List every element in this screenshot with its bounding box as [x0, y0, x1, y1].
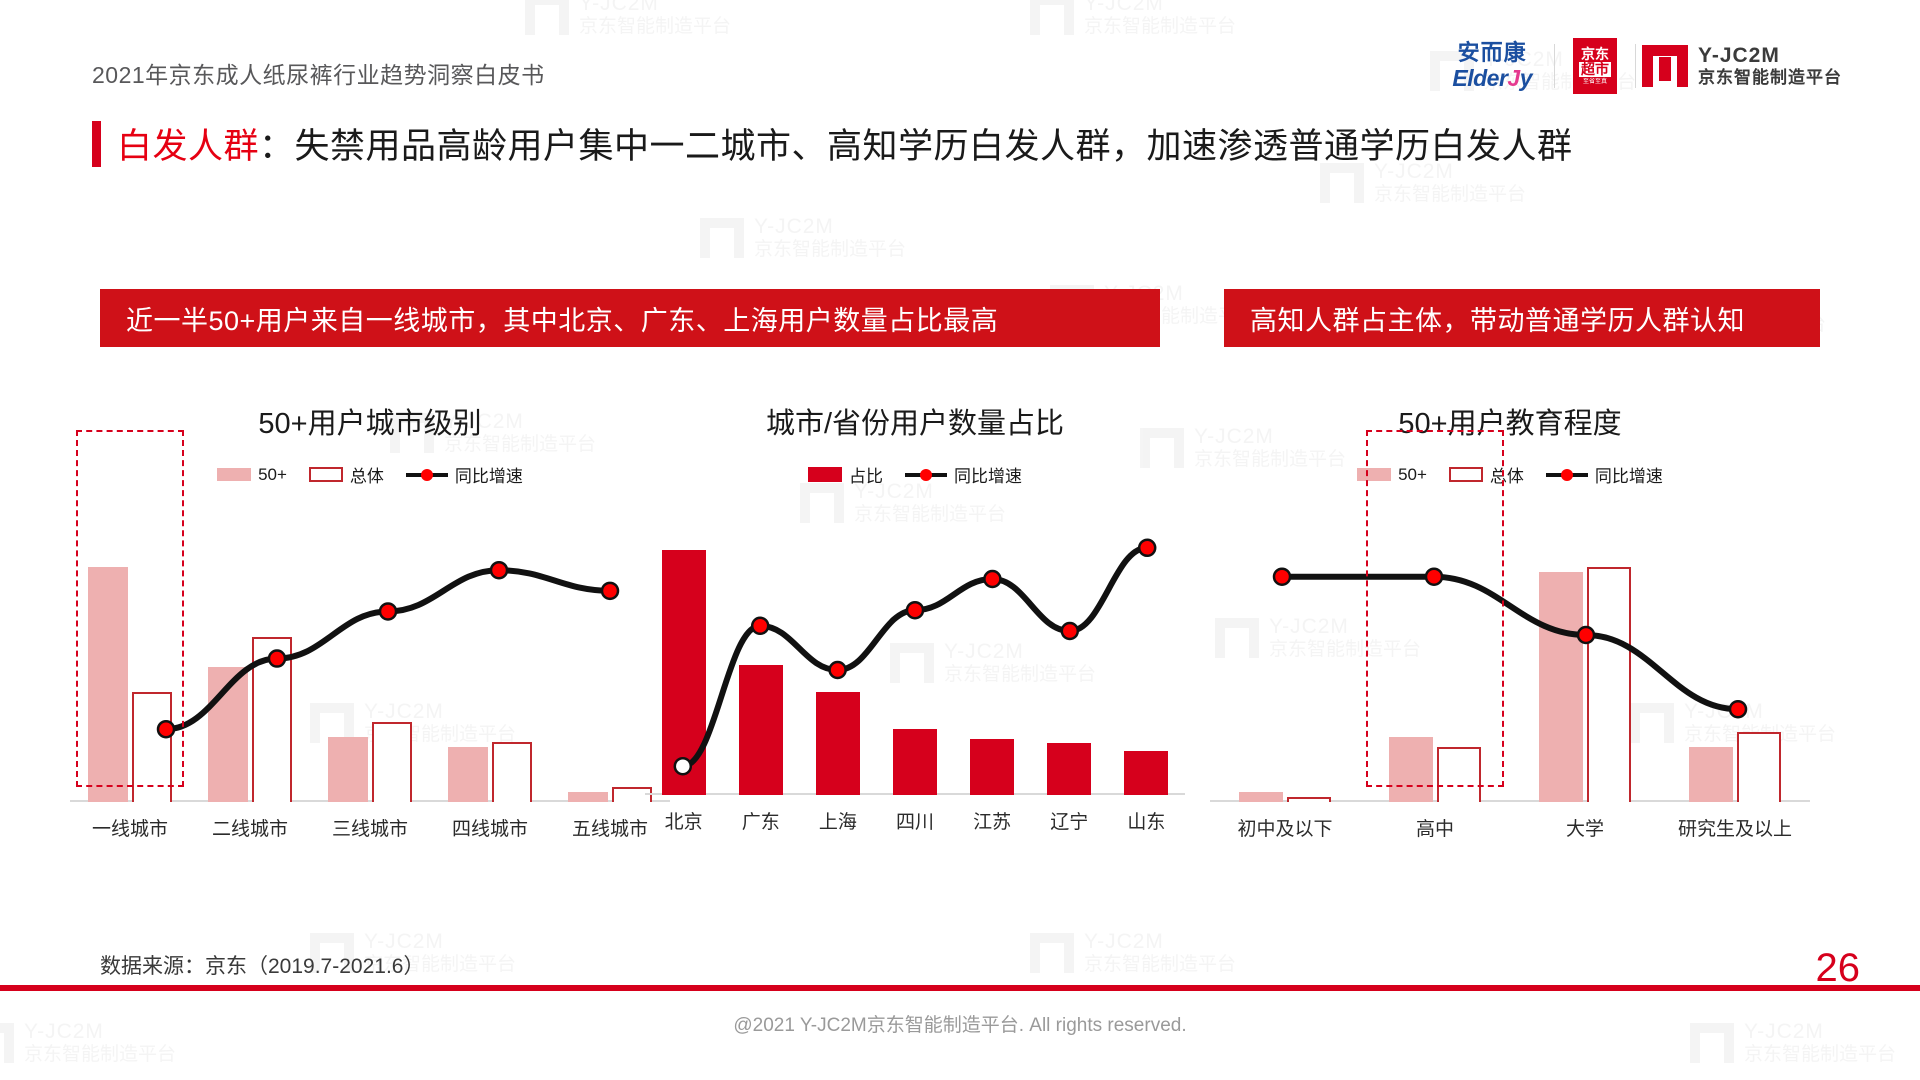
title-text: 白发人群：失禁用品高龄用户集中一二城市、高知学历白发人群，加速渗透普通学历白发人… [117, 118, 1573, 169]
x-label-辽宁: 辽宁 [1031, 807, 1108, 834]
line-point-大学 [1578, 627, 1594, 643]
x-label-四线城市: 四线城市 [430, 814, 550, 841]
x-label-高中: 高中 [1360, 814, 1510, 841]
chart-1-title: 50+用户城市级别 [70, 400, 670, 442]
x-label-初中及以下: 初中及以下 [1210, 814, 1360, 841]
data-source: 数据来源：京东（2019.7-2021.6） [100, 950, 424, 980]
chart-2-legend: 占比 同比增速 [645, 462, 1185, 487]
x-label-四川: 四川 [876, 807, 953, 834]
jd-logo-line1: 京东 [1581, 47, 1609, 62]
x-label-大学: 大学 [1510, 814, 1660, 841]
chart-education-level: 50+用户教育程度 50+ 总体 同比增速 初中及以下高中大学研究生及以上 [1210, 400, 1810, 841]
legend-swatch-open-icon [1449, 467, 1483, 482]
line-point-一线城市 [158, 721, 174, 737]
chart-2-plot [645, 515, 1185, 795]
watermark-cn: 京东智能制造平台 [24, 1044, 176, 1066]
jd-logo-line2: 超市 [1579, 62, 1611, 77]
x-label-二线城市: 二线城市 [190, 814, 310, 841]
line-point-广东 [752, 618, 768, 634]
watermark-cn: 京东智能制造平台 [754, 239, 906, 261]
line-point-三线城市 [380, 603, 396, 619]
x-label-山东: 山东 [1108, 807, 1185, 834]
legend-item-50plus: 50+ [217, 465, 287, 485]
elderjoy-logo-en: ElderJy [1452, 67, 1532, 90]
growth-line-series [1210, 517, 1810, 802]
line-point-山东 [1139, 540, 1155, 556]
line-point-二线城市 [269, 651, 285, 667]
chart-city-province-share: 城市/省份用户数量占比 占比 同比增速 北京广东上海四川江苏辽宁山东 [645, 400, 1185, 834]
line-point-五线城市 [602, 583, 618, 599]
jd-logo-line3: 至省至真 [1583, 79, 1607, 85]
watermark-cn: 京东智能制造平台 [1744, 1044, 1896, 1066]
growth-line-series [70, 517, 670, 802]
line-point-江苏 [984, 571, 1000, 587]
chart-2-x-labels: 北京广东上海四川江苏辽宁山东 [645, 807, 1185, 834]
chart-3-x-labels: 初中及以下高中大学研究生及以上 [1210, 814, 1810, 841]
watermark-cn: 京东智能制造平台 [1084, 954, 1236, 976]
line-point-四川 [907, 602, 923, 618]
legend-item-total: 总体 [309, 462, 384, 487]
x-label-广东: 广东 [722, 807, 799, 834]
chart-1-plot [70, 517, 670, 802]
yjc2m-mark-icon [1642, 45, 1688, 87]
legend-swatch-fill-icon [1357, 468, 1391, 481]
title-highlight: 白发人群 [117, 127, 259, 166]
growth-line-series [645, 515, 1185, 795]
yjc2m-logo-en: Y-JC2M [1698, 43, 1842, 68]
x-label-上海: 上海 [799, 807, 876, 834]
banner-left: 近一半50+用户来自一线城市，其中北京、广东、上海用户数量占比最高 [100, 289, 1160, 347]
legend-line-marker-icon [1546, 468, 1588, 482]
legend-swatch-fill-icon [217, 468, 251, 481]
legend-swatch-open-icon [309, 467, 343, 482]
line-point-北京 [675, 758, 691, 774]
chart-3-legend: 50+ 总体 同比增速 [1210, 462, 1810, 487]
page-header: 2021年京东成人纸尿裤行业趋势洞察白皮书 安而康 ElderJy 京东 超市 … [0, 0, 1920, 108]
logo-divider [1554, 44, 1555, 88]
legend-item-growth: 同比增速 [1546, 462, 1663, 487]
document-title: 2021年京东成人纸尿裤行业趋势洞察白皮书 [92, 56, 545, 90]
elderjoy-logo: 安而康 ElderJy [1452, 42, 1554, 90]
legend-line-marker-icon [905, 468, 947, 482]
chart-3-title: 50+用户教育程度 [1210, 400, 1810, 442]
yjc2m-logo: Y-JC2M 京东智能制造平台 [1642, 43, 1842, 89]
line-point-辽宁 [1062, 623, 1078, 639]
banner-right: 高知人群占主体，带动普通学历人群认知 [1224, 289, 1820, 347]
line-point-四线城市 [491, 562, 507, 578]
title-accent-bar [92, 121, 101, 167]
x-label-一线城市: 一线城市 [70, 814, 190, 841]
legend-item-growth: 同比增速 [406, 462, 523, 487]
page-number: 26 [1816, 946, 1861, 991]
elderjoy-logo-cn: 安而康 [1458, 42, 1527, 64]
legend-item-50plus: 50+ [1357, 465, 1427, 485]
yjc2m-logo-cn: 京东智能制造平台 [1698, 68, 1842, 88]
chart-1-x-labels: 一线城市二线城市三线城市四线城市五线城市 [70, 814, 670, 841]
watermark-en: Y-JC2M [1084, 930, 1236, 954]
chart-1-legend: 50+ 总体 同比增速 [70, 462, 670, 487]
jd-supermarket-logo: 京东 超市 至省至真 [1573, 38, 1617, 94]
x-label-北京: 北京 [645, 807, 722, 834]
chart-city-tier: 50+用户城市级别 50+ 总体 同比增速 一线城市二线城市三线城市四线城市五线… [70, 400, 670, 841]
chart-2-title: 城市/省份用户数量占比 [645, 400, 1185, 442]
line-point-高中 [1426, 569, 1442, 585]
banner-left-text: 近一半50+用户来自一线城市，其中北京、广东、上海用户数量占比最高 [126, 299, 998, 338]
legend-item-growth: 同比增速 [905, 462, 1022, 487]
slide-title: 白发人群：失禁用品高龄用户集中一二城市、高知学历白发人群，加速渗透普通学历白发人… [92, 118, 1573, 169]
x-label-江苏: 江苏 [954, 807, 1031, 834]
title-rest: ：失禁用品高龄用户集中一二城市、高知学历白发人群，加速渗透普通学历白发人群 [259, 127, 1573, 166]
logo-group: 安而康 ElderJy 京东 超市 至省至真 Y-JC2M 京东智能制造平台 [1452, 38, 1842, 94]
x-label-研究生及以上: 研究生及以上 [1660, 814, 1810, 841]
copyright-text: @2021 Y-JC2M京东智能制造平台. All rights reserve… [0, 1010, 1920, 1037]
banner-right-text: 高知人群占主体，带动普通学历人群认知 [1250, 299, 1745, 338]
logo-divider [1635, 44, 1636, 88]
legend-line-marker-icon [406, 468, 448, 482]
watermark-cn: 京东智能制造平台 [1374, 184, 1526, 206]
x-label-三线城市: 三线城市 [310, 814, 430, 841]
watermark-en: Y-JC2M [754, 215, 906, 239]
line-point-初中及以下 [1274, 569, 1290, 585]
chart-3-plot [1210, 517, 1810, 802]
line-point-研究生及以上 [1730, 701, 1746, 717]
line-point-上海 [830, 662, 846, 678]
footer-rule [0, 985, 1920, 991]
legend-item-share: 占比 [808, 462, 883, 487]
legend-swatch-solid-icon [808, 467, 842, 482]
legend-item-total: 总体 [1449, 462, 1524, 487]
